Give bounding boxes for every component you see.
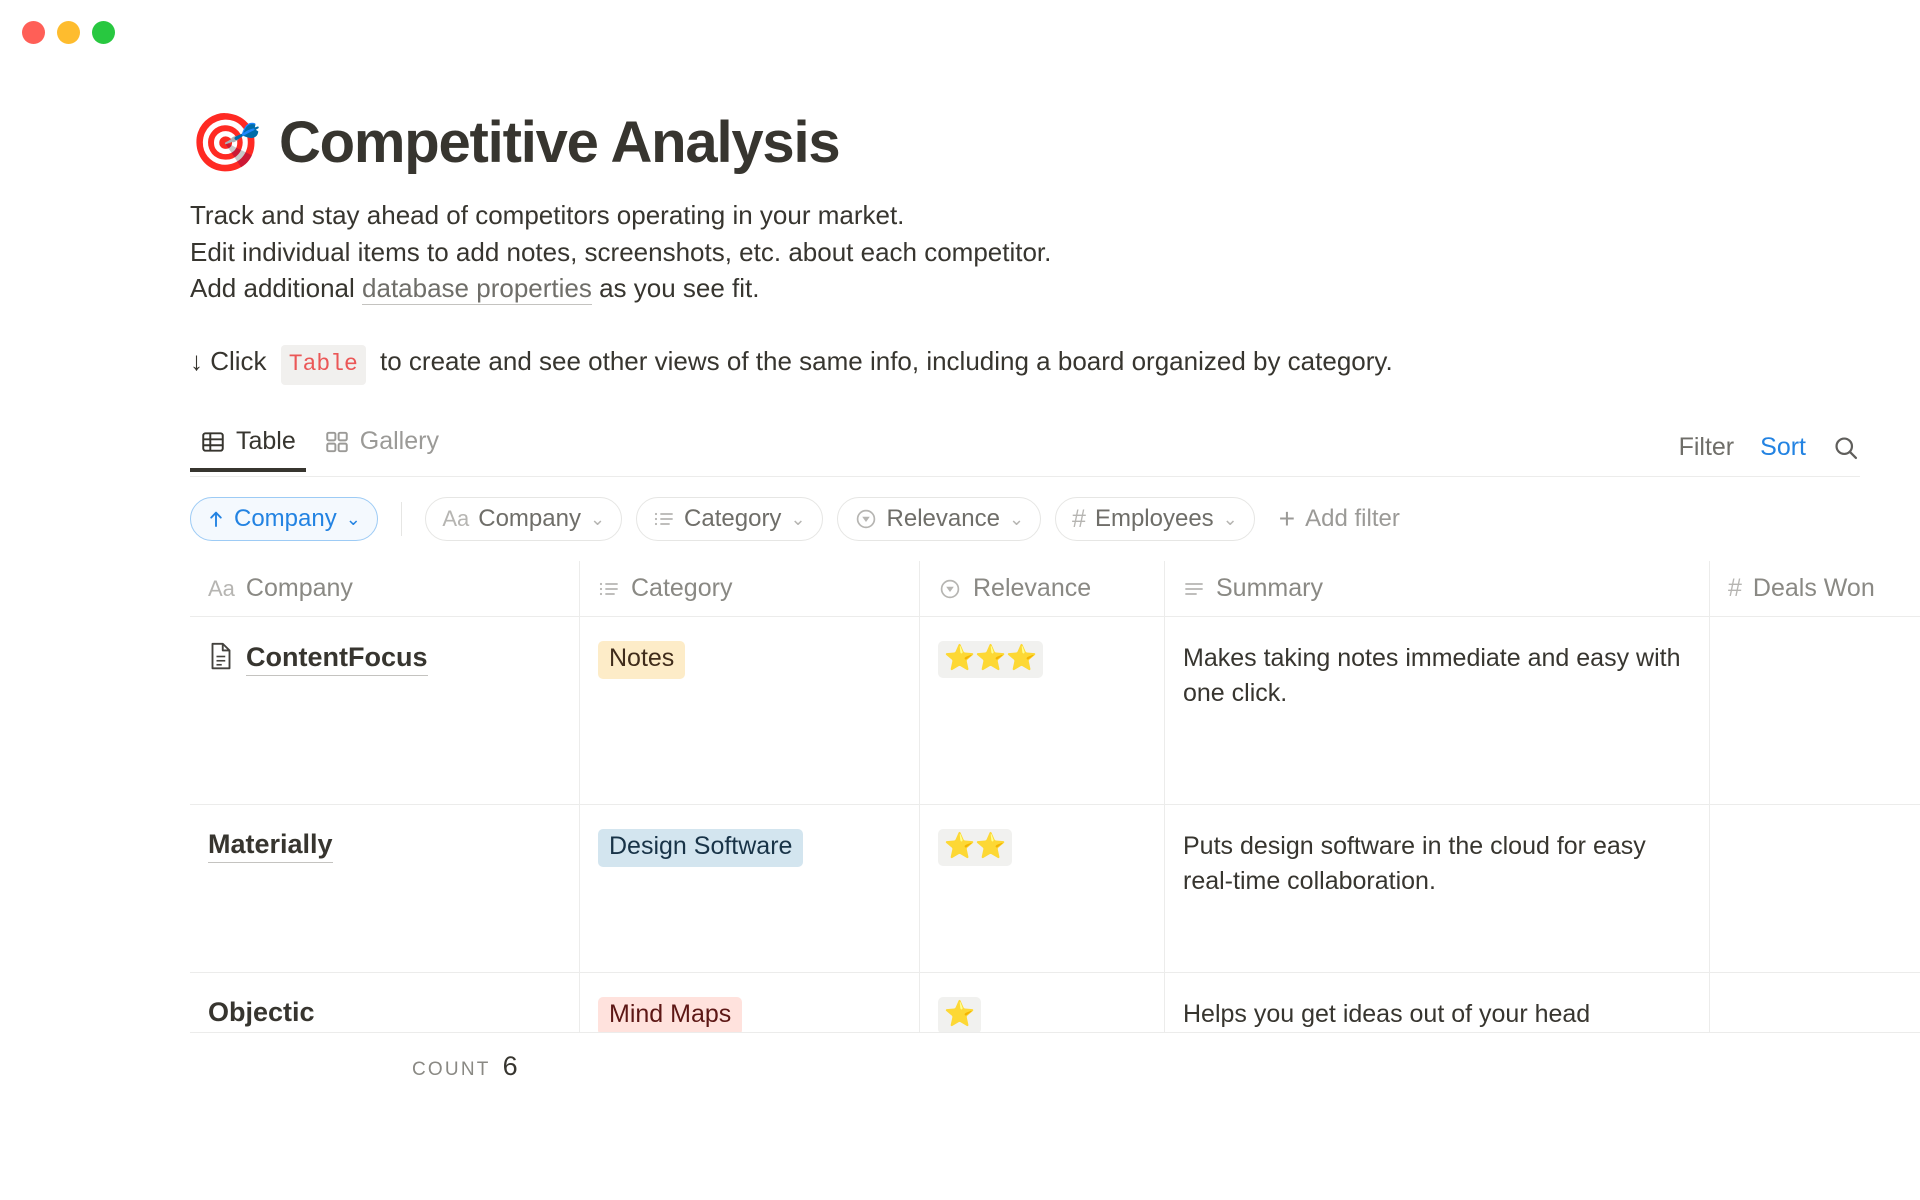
sort-chip-label: Company xyxy=(234,505,337,533)
cell-company[interactable]: ContentFocus xyxy=(190,617,580,805)
window-titlebar xyxy=(0,0,1920,64)
cell-deals-won[interactable]: 0 xyxy=(1710,805,1920,973)
description-line-3: Add additional database properties as yo… xyxy=(190,270,1860,307)
filter-chip-category-label: Category xyxy=(684,505,781,533)
cell-category[interactable]: Notes xyxy=(580,617,920,805)
filter-button[interactable]: Filter xyxy=(1679,433,1735,462)
page-title: Competitive Analysis xyxy=(279,112,839,175)
target-emoji-icon: 🎯 xyxy=(190,115,261,172)
window-traffic-lights xyxy=(22,21,115,44)
column-header-company[interactable]: Aa Company xyxy=(190,561,580,617)
table-header-row: Aa Company Category xyxy=(190,561,1860,617)
company-name-link[interactable]: Materially xyxy=(208,829,333,863)
chevron-down-icon: ⌄ xyxy=(1009,509,1024,530)
table-row: Materially Design Software ⭐⭐ Puts desig… xyxy=(190,805,1860,973)
select-circle-icon xyxy=(938,577,962,601)
table-row: Objectic Mind Maps ⭐ Helps you get ideas… xyxy=(190,973,1860,1033)
summary-text: Makes taking notes immediate and easy wi… xyxy=(1183,641,1691,710)
filter-chip-company[interactable]: Aa Company ⌄ xyxy=(425,497,622,541)
sort-chip-company[interactable]: Company ⌄ xyxy=(190,497,378,541)
select-list-icon xyxy=(598,579,620,599)
relevance-stars: ⭐ xyxy=(938,997,981,1033)
gallery-icon xyxy=(324,429,350,455)
cell-summary[interactable]: Helps you get ideas out of your head xyxy=(1165,973,1710,1033)
cell-relevance[interactable]: ⭐⭐⭐ xyxy=(920,617,1165,805)
close-window-button[interactable] xyxy=(22,21,45,44)
cell-summary[interactable]: Puts design software in the cloud for ea… xyxy=(1165,805,1710,973)
add-filter-label: Add filter xyxy=(1305,505,1400,533)
description-line-3-prefix: Add additional xyxy=(190,273,362,303)
page-description: Track and stay ahead of competitors oper… xyxy=(190,197,1860,385)
table-row: ContentFocus Notes ⭐⭐⭐ Makes taking note… xyxy=(190,617,1860,805)
cell-category[interactable]: Mind Maps xyxy=(580,973,920,1033)
column-header-deals-won[interactable]: # Deals Won xyxy=(1710,561,1920,617)
column-header-summary[interactable]: Summary xyxy=(1165,561,1710,617)
number-hash-icon: # xyxy=(1072,505,1086,534)
count-value: 6 xyxy=(503,1051,518,1082)
cell-summary[interactable]: Makes taking notes immediate and easy wi… xyxy=(1165,617,1710,805)
cell-company[interactable]: Materially xyxy=(190,805,580,973)
callout-suffix: to create and see other views of the sam… xyxy=(373,343,1393,380)
category-tag: Design Software xyxy=(598,829,803,867)
arrow-up-icon xyxy=(207,509,225,529)
database-view-bar: Table Gallery Filter So xyxy=(190,421,1860,477)
view-tab-list: Table Gallery xyxy=(190,421,449,476)
company-cell-inner: ContentFocus xyxy=(208,641,428,676)
filter-chip-category[interactable]: Category ⌄ xyxy=(636,497,822,541)
cell-deals-won[interactable] xyxy=(1710,973,1920,1033)
filter-chip-row: Company ⌄ Aa Company ⌄ xyxy=(190,495,1860,543)
column-header-relevance-label: Relevance xyxy=(973,574,1091,603)
column-header-category-label: Category xyxy=(631,574,732,603)
tab-table[interactable]: Table xyxy=(190,427,306,470)
tab-gallery[interactable]: Gallery xyxy=(314,427,449,470)
description-line-1: Track and stay ahead of competitors oper… xyxy=(190,197,1860,234)
company-name-link[interactable]: ContentFocus xyxy=(246,642,428,676)
tab-gallery-label: Gallery xyxy=(360,427,439,456)
column-header-deals-won-label: Deals Won xyxy=(1753,574,1875,603)
chip-divider xyxy=(401,502,403,536)
sort-button[interactable]: Sort xyxy=(1760,433,1806,462)
filter-chip-relevance[interactable]: Relevance ⌄ xyxy=(837,497,1042,541)
summary-text: Puts design software in the cloud for ea… xyxy=(1183,829,1691,898)
page-header: 🎯 Competitive Analysis xyxy=(190,112,1860,175)
database-properties-link[interactable]: database properties xyxy=(362,273,592,305)
deals-won-value: 1 xyxy=(1728,641,1920,672)
plus-icon: + xyxy=(1279,505,1295,533)
filter-chip-company-label: Company xyxy=(478,505,581,533)
description-line-3-suffix: as you see fit. xyxy=(592,273,760,303)
column-header-company-label: Company xyxy=(246,574,353,603)
count-block[interactable]: Count 6 xyxy=(412,1051,518,1082)
chevron-down-icon: ⌄ xyxy=(1223,509,1238,530)
table-icon xyxy=(200,429,226,455)
tab-table-label: Table xyxy=(236,427,296,456)
minimize-window-button[interactable] xyxy=(57,21,80,44)
view-actions: Filter Sort xyxy=(1679,433,1860,476)
table-code-chip: Table xyxy=(281,345,366,385)
page: 🎯 Competitive Analysis Track and stay ah… xyxy=(0,112,1920,1082)
column-header-category[interactable]: Category xyxy=(580,561,920,617)
company-name-link[interactable]: Objectic xyxy=(208,997,315,1030)
select-list-icon xyxy=(653,509,675,529)
filter-chip-relevance-label: Relevance xyxy=(887,505,1000,533)
summary-text: Helps you get ideas out of your head xyxy=(1183,997,1590,1032)
column-header-summary-label: Summary xyxy=(1216,574,1323,603)
page-document-icon xyxy=(208,641,234,676)
relevance-stars: ⭐⭐ xyxy=(938,829,1012,866)
cell-relevance[interactable]: ⭐ xyxy=(920,973,1165,1033)
category-tag: Mind Maps xyxy=(598,997,742,1033)
database-table: Aa Company Category xyxy=(190,561,1860,1033)
filter-chip-employees[interactable]: # Employees ⌄ xyxy=(1055,497,1255,541)
cell-relevance[interactable]: ⭐⭐ xyxy=(920,805,1165,973)
add-filter-button[interactable]: + Add filter xyxy=(1269,505,1410,533)
text-aa-icon: Aa xyxy=(208,576,235,602)
deals-won-value: 0 xyxy=(1728,829,1920,860)
column-header-relevance[interactable]: Relevance xyxy=(920,561,1165,617)
page-content: 🎯 Competitive Analysis Track and stay ah… xyxy=(190,112,1860,1082)
table-body: ContentFocus Notes ⭐⭐⭐ Makes taking note… xyxy=(190,617,1860,1033)
callout-line: ↓ Click Table to create and see other vi… xyxy=(190,343,1860,385)
chevron-down-icon: ⌄ xyxy=(790,509,805,530)
zoom-window-button[interactable] xyxy=(92,21,115,44)
chevron-down-icon: ⌄ xyxy=(346,509,361,530)
cell-category[interactable]: Design Software xyxy=(580,805,920,973)
category-tag: Notes xyxy=(598,641,685,679)
company-cell-inner: Materially xyxy=(208,829,333,863)
table-footer: Count 6 xyxy=(190,1051,1860,1082)
number-hash-icon: # xyxy=(1728,574,1742,603)
select-circle-icon xyxy=(854,507,878,531)
description-line-2: Edit individual items to add notes, scre… xyxy=(190,234,1860,271)
callout-prefix: ↓ Click xyxy=(190,343,274,380)
text-aa-icon: Aa xyxy=(442,506,469,532)
relevance-stars: ⭐⭐⭐ xyxy=(938,641,1043,678)
search-icon[interactable] xyxy=(1832,434,1860,462)
text-lines-icon xyxy=(1183,579,1205,599)
chevron-down-icon: ⌄ xyxy=(590,509,605,530)
company-cell-inner: Objectic xyxy=(208,997,315,1030)
count-label: Count xyxy=(412,1059,491,1081)
cell-company[interactable]: Objectic xyxy=(190,973,580,1033)
filter-chip-employees-label: Employees xyxy=(1095,505,1214,533)
description-spacer xyxy=(190,307,1860,343)
cell-deals-won[interactable]: 1 xyxy=(1710,617,1920,805)
